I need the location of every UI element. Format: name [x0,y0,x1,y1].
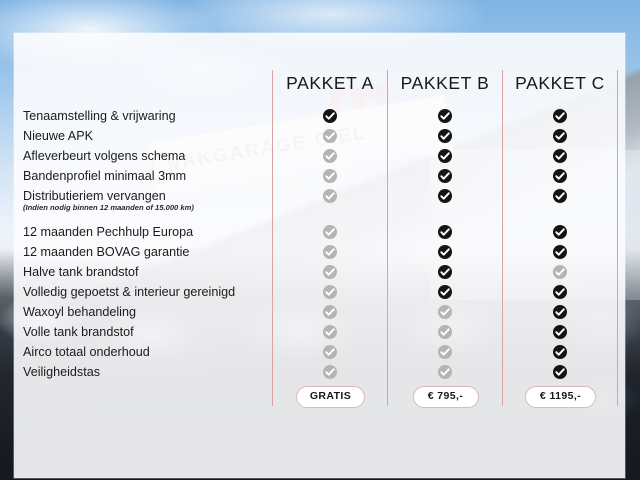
check-icon-excluded [323,129,337,143]
check-icon-excluded [323,245,337,259]
check-icon-excluded [323,305,337,319]
feature-label: 12 maanden Pechhulp Europa [23,225,193,239]
check-icon-included [438,169,452,183]
check-icon-excluded [553,265,567,279]
pricing-table-screenshot: VAKGARAGE GIEL PAKKET APAKKET BPAKKET CT… [0,0,640,480]
column-divider-2 [387,70,388,406]
feature-label: Volledig gepoetst & interieur gereinigd [23,285,235,299]
check-icon-excluded [323,365,337,379]
check-icon-included [553,345,567,359]
check-icon-included [438,225,452,239]
feature-label: Halve tank brandstof [23,265,139,279]
check-icon-included [553,285,567,299]
check-icon-included [553,109,567,123]
check-icon-excluded [323,285,337,299]
check-icon-excluded [323,225,337,239]
check-icon-excluded [438,365,452,379]
check-icon-included [438,245,452,259]
check-icon-included [553,245,567,259]
feature-label: Distributieriem vervangen [23,189,166,203]
price-button-c[interactable]: € 1195,- [525,386,596,408]
check-icon-included [553,149,567,163]
check-icon-excluded [323,169,337,183]
feature-label: Volle tank brandstof [23,325,134,339]
check-icon-excluded [323,149,337,163]
feature-label: Veiligheidstas [23,365,100,379]
column-divider-4 [617,70,618,406]
check-icon-included [553,225,567,239]
column-divider-1 [272,70,273,406]
check-icon-excluded [438,325,452,339]
check-icon-included [553,305,567,319]
check-icon-excluded [323,189,337,203]
check-icon-included [323,109,337,123]
column-header-b: PAKKET B [388,70,502,96]
check-icon-included [438,189,452,203]
feature-label: 12 maanden BOVAG garantie [23,245,189,259]
check-icon-included [553,325,567,339]
check-icon-included [438,285,452,299]
check-icon-excluded [323,325,337,339]
feature-label: Afleverbeurt volgens schema [23,149,185,163]
check-icon-included [438,109,452,123]
check-icon-included [438,149,452,163]
check-icon-included [553,365,567,379]
column-header-c: PAKKET C [503,70,617,96]
check-icon-included [438,265,452,279]
price-button-b[interactable]: € 795,- [413,386,479,408]
check-icon-included [438,129,452,143]
feature-label: Bandenprofiel minimaal 3mm [23,169,186,183]
price-button-a[interactable]: GRATIS [296,386,365,408]
feature-label: Airco totaal onderhoud [23,345,150,359]
feature-label: Waxoyl behandeling [23,305,136,319]
check-icon-included [553,189,567,203]
column-divider-3 [502,70,503,406]
feature-note: (Indien nodig binnen 12 maanden of 15.00… [23,203,194,213]
check-icon-included [553,129,567,143]
feature-label: Nieuwe APK [23,129,93,143]
check-icon-excluded [438,305,452,319]
check-icon-included [553,169,567,183]
column-header-a: PAKKET A [273,70,387,96]
check-icon-excluded [323,345,337,359]
feature-label: Tenaamstelling & vrijwaring [23,109,176,123]
check-icon-excluded [323,265,337,279]
check-icon-excluded [438,345,452,359]
